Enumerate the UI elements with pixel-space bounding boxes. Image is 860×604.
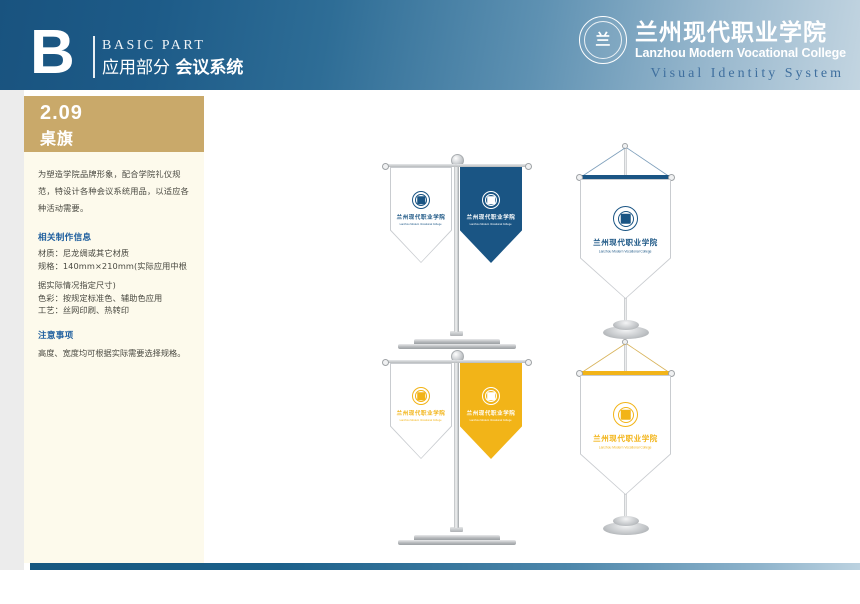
flag-logo-lockup: 兰州现代职业学院 Lanzhou Modern Vocational Colle…: [460, 191, 522, 226]
production-info-group: 相关制作信息 材质：尼龙绸或其它材质 规格：140mm×210mm(实际应用中根…: [38, 231, 196, 317]
page-canvas: B BASIC PART 应用部分 会议系统 兰 兰州现代职业学院 Lanzho…: [0, 0, 860, 604]
exhibit-gold-double-stand: 兰州现代职业学院 Lanzhou Modern Vocational Colle…: [380, 342, 560, 552]
stand-pole: [454, 356, 459, 528]
flag-brand-cn: 兰州现代职业学院: [467, 409, 516, 417]
stand-base-riser: [414, 535, 500, 540]
stand-pole: [454, 160, 459, 332]
stand-foot-dome: [613, 516, 639, 526]
header-title-group: BASIC PART 应用部分 会议系统: [102, 38, 243, 78]
section-letter: B: [30, 24, 74, 82]
stand-crossbar-right: [456, 360, 528, 363]
brand-name-cn: 兰州现代职业学院: [635, 20, 846, 46]
flag-brand-cn: 兰州现代职业学院: [593, 237, 658, 248]
seal-core: [487, 392, 495, 400]
crossbar-end-cap: [525, 163, 532, 170]
crossbar-end-cap: [525, 359, 532, 366]
flag-brand-en: Lanzhou Modern Vocational College: [470, 222, 512, 225]
section-title-cn-secondary: 会议系统: [175, 58, 243, 78]
brand-lockup: 兰 兰州现代职业学院 Lanzhou Modern Vocational Col…: [579, 16, 846, 64]
college-seal-icon: [613, 402, 638, 427]
flag-brand-cn: 兰州现代职业学院: [397, 213, 446, 221]
section-title-cn-primary: 应用部分: [102, 58, 170, 78]
flag-logo-lockup: 兰州现代职业学院 Lanzhou Modern Vocational Colle…: [580, 206, 671, 254]
crossbar-end-cap: [382, 163, 389, 170]
flag-logo-lockup: 兰州现代职业学院 Lanzhou Modern Vocational Colle…: [460, 387, 522, 422]
flag-brand-en: Lanzhou Modern Vocational College: [400, 222, 442, 225]
college-seal-icon: [482, 191, 500, 209]
sidebar-intro-text: 为塑造学院品牌形象，配合学院礼仪规范，特设计各种会议系统用品，以适应各种活动需要…: [38, 166, 196, 217]
flag-brand-en: Lanzhou Modern Vocational College: [599, 249, 652, 253]
seal-core: [620, 409, 631, 420]
flag-brand-en: Lanzhou Modern Vocational College: [599, 445, 652, 449]
flag-logo-lockup: 兰州现代职业学院 Lanzhou Modern Vocational Colle…: [580, 402, 671, 450]
header-divider: [93, 36, 95, 78]
flag-top-band: [580, 371, 671, 375]
production-info-line: 据实际情况指定尺寸): [38, 279, 196, 292]
flag-brand-cn: 兰州现代职业学院: [467, 213, 516, 221]
stand-crossbar-right: [456, 164, 528, 167]
sidebar-section-number: 2.09: [40, 102, 83, 125]
notes-text: 高度、宽度均可根据实际需要选择规格。: [38, 345, 196, 362]
flag-brand-en: Lanzhou Modern Vocational College: [400, 418, 442, 421]
flag-brand-en: Lanzhou Modern Vocational College: [470, 418, 512, 421]
notes-heading: 注意事项: [38, 329, 196, 343]
seal-core: [487, 196, 495, 204]
seal-core: [620, 213, 631, 224]
flag-top-band: [580, 175, 671, 179]
stand-crossbar-left: [384, 164, 456, 167]
college-seal-icon: [482, 387, 500, 405]
college-seal-icon: [412, 191, 430, 209]
spacer: [38, 272, 196, 279]
footer-rule: [30, 563, 860, 570]
stand-foot-dome: [613, 320, 639, 330]
exhibit-blue-double-stand: 兰州现代职业学院 Lanzhou Modern Vocational Colle…: [380, 146, 560, 356]
production-info-line: 色彩：按规定标准色、辅助色应用: [38, 292, 196, 305]
flag-brand-cn: 兰州现代职业学院: [593, 433, 658, 444]
seal-glyph: 兰: [595, 33, 610, 48]
flag-logo-lockup: 兰州现代职业学院 Lanzhou Modern Vocational Colle…: [390, 191, 452, 226]
production-info-line: 规格：140mm×210mm(实际应用中根: [38, 260, 196, 273]
flag-logo-lockup: 兰州现代职业学院 Lanzhou Modern Vocational Colle…: [390, 387, 452, 422]
page-header: B BASIC PART 应用部分 会议系统 兰 兰州现代职业学院 Lanzho…: [0, 0, 860, 90]
stand-base: [398, 540, 516, 545]
visual-identity-system-label: Visual Identity System: [651, 66, 844, 82]
production-info-line: 工艺：丝网印刷、热转印: [38, 304, 196, 317]
college-seal-icon: 兰: [579, 16, 627, 64]
seal-core: [417, 392, 425, 400]
sidebar-body: 为塑造学院品牌形象，配合学院礼仪规范，特设计各种会议系统用品，以适应各种活动需要…: [38, 166, 196, 362]
section-title-cn: 应用部分 会议系统: [102, 58, 243, 78]
college-seal-icon: [412, 387, 430, 405]
college-seal-icon: [613, 206, 638, 231]
production-info-heading: 相关制作信息: [38, 231, 196, 245]
exhibit-gold-hanging-stand: 兰州现代职业学院 Lanzhou Modern Vocational Colle…: [569, 336, 709, 556]
spacer: [38, 317, 196, 329]
notes-group: 注意事项 高度、宽度均可根据实际需要选择规格。: [38, 329, 196, 362]
seal-core: [417, 196, 425, 204]
sidebar-section-title: 桌旗: [40, 125, 74, 149]
artwork-stage: 兰州现代职业学院 Lanzhou Modern Vocational Colle…: [204, 96, 860, 563]
production-info-line: 材质：尼龙绸或其它材质: [38, 247, 196, 260]
stand-crossbar-left: [384, 360, 456, 363]
brand-names: 兰州现代职业学院 Lanzhou Modern Vocational Colle…: [635, 20, 846, 60]
section-title-en: BASIC PART: [102, 38, 243, 54]
crossbar-end-cap: [382, 359, 389, 366]
exhibit-blue-hanging-stand: 兰州现代职业学院 Lanzhou Modern Vocational Colle…: [569, 140, 709, 360]
brand-name-en: Lanzhou Modern Vocational College: [635, 46, 846, 60]
flag-brand-cn: 兰州现代职业学院: [397, 409, 446, 417]
left-margin-strip: [0, 90, 24, 570]
